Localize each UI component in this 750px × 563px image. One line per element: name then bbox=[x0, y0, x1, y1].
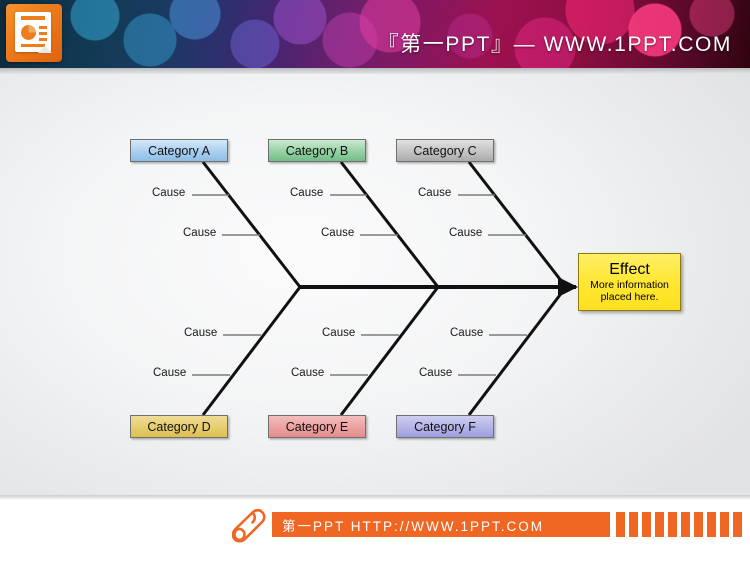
branch-bone-f bbox=[469, 287, 566, 415]
slide-canvas: Category A Category B Category C Categor… bbox=[0, 74, 750, 495]
cause-label-e2[interactable]: Cause bbox=[291, 367, 324, 379]
category-label-f: Category F bbox=[414, 420, 476, 434]
footer-banner: 第一PPT HTTP://WWW.1PPT.COM bbox=[272, 512, 610, 537]
branch-bone-b bbox=[341, 162, 438, 287]
footer-text: 第一PPT HTTP://WWW.1PPT.COM bbox=[272, 515, 544, 535]
footer-bar bbox=[668, 512, 677, 537]
cause-label-b1[interactable]: Cause bbox=[290, 187, 323, 199]
branch-bone-d bbox=[203, 287, 300, 415]
footer-divider bbox=[0, 495, 750, 500]
footer-bar bbox=[616, 512, 625, 537]
cause-label-d2[interactable]: Cause bbox=[153, 367, 186, 379]
cause-label-c1[interactable]: Cause bbox=[418, 187, 451, 199]
category-label-a: Category A bbox=[148, 144, 210, 158]
category-label-e: Category E bbox=[286, 420, 349, 434]
category-box-b[interactable]: Category B bbox=[268, 139, 366, 162]
branch-bone-a bbox=[203, 162, 300, 287]
footer-bar bbox=[707, 512, 716, 537]
category-box-d[interactable]: Category D bbox=[130, 415, 228, 438]
footer-bar bbox=[681, 512, 690, 537]
footer-bar bbox=[720, 512, 729, 537]
effect-title: Effect bbox=[609, 261, 650, 279]
footer-bar bbox=[733, 512, 742, 537]
cause-label-f1[interactable]: Cause bbox=[450, 327, 483, 339]
page-footer: 第一PPT HTTP://WWW.1PPT.COM bbox=[0, 495, 750, 563]
footer-bar bbox=[642, 512, 651, 537]
category-box-f[interactable]: Category F bbox=[396, 415, 494, 438]
category-label-b: Category B bbox=[286, 144, 349, 158]
cause-label-a1[interactable]: Cause bbox=[152, 187, 185, 199]
category-box-a[interactable]: Category A bbox=[130, 139, 228, 162]
cause-label-f2[interactable]: Cause bbox=[419, 367, 452, 379]
footer-bar bbox=[694, 512, 703, 537]
cause-label-e1[interactable]: Cause bbox=[322, 327, 355, 339]
powerpoint-logo-icon bbox=[6, 4, 62, 62]
cause-label-a2[interactable]: Cause bbox=[183, 227, 216, 239]
category-label-c: Category C bbox=[413, 144, 476, 158]
footer-bar bbox=[629, 512, 638, 537]
category-label-d: Category D bbox=[147, 420, 210, 434]
branch-bone-c bbox=[469, 162, 566, 287]
category-box-e[interactable]: Category E bbox=[268, 415, 366, 438]
branch-bone-e bbox=[341, 287, 438, 415]
category-box-c[interactable]: Category C bbox=[396, 139, 494, 162]
footer-bar bbox=[655, 512, 664, 537]
chalk-pencil-icon bbox=[232, 508, 270, 544]
cause-label-b2[interactable]: Cause bbox=[321, 227, 354, 239]
cause-label-d1[interactable]: Cause bbox=[184, 327, 217, 339]
cause-label-c2[interactable]: Cause bbox=[449, 227, 482, 239]
effect-box[interactable]: Effect More information placed here. bbox=[578, 253, 681, 311]
header-title: 『第一PPT』— WWW.1PPT.COM bbox=[378, 28, 732, 58]
page-header: 『第一PPT』— WWW.1PPT.COM bbox=[0, 0, 750, 68]
effect-subtitle: More information placed here. bbox=[579, 280, 680, 303]
